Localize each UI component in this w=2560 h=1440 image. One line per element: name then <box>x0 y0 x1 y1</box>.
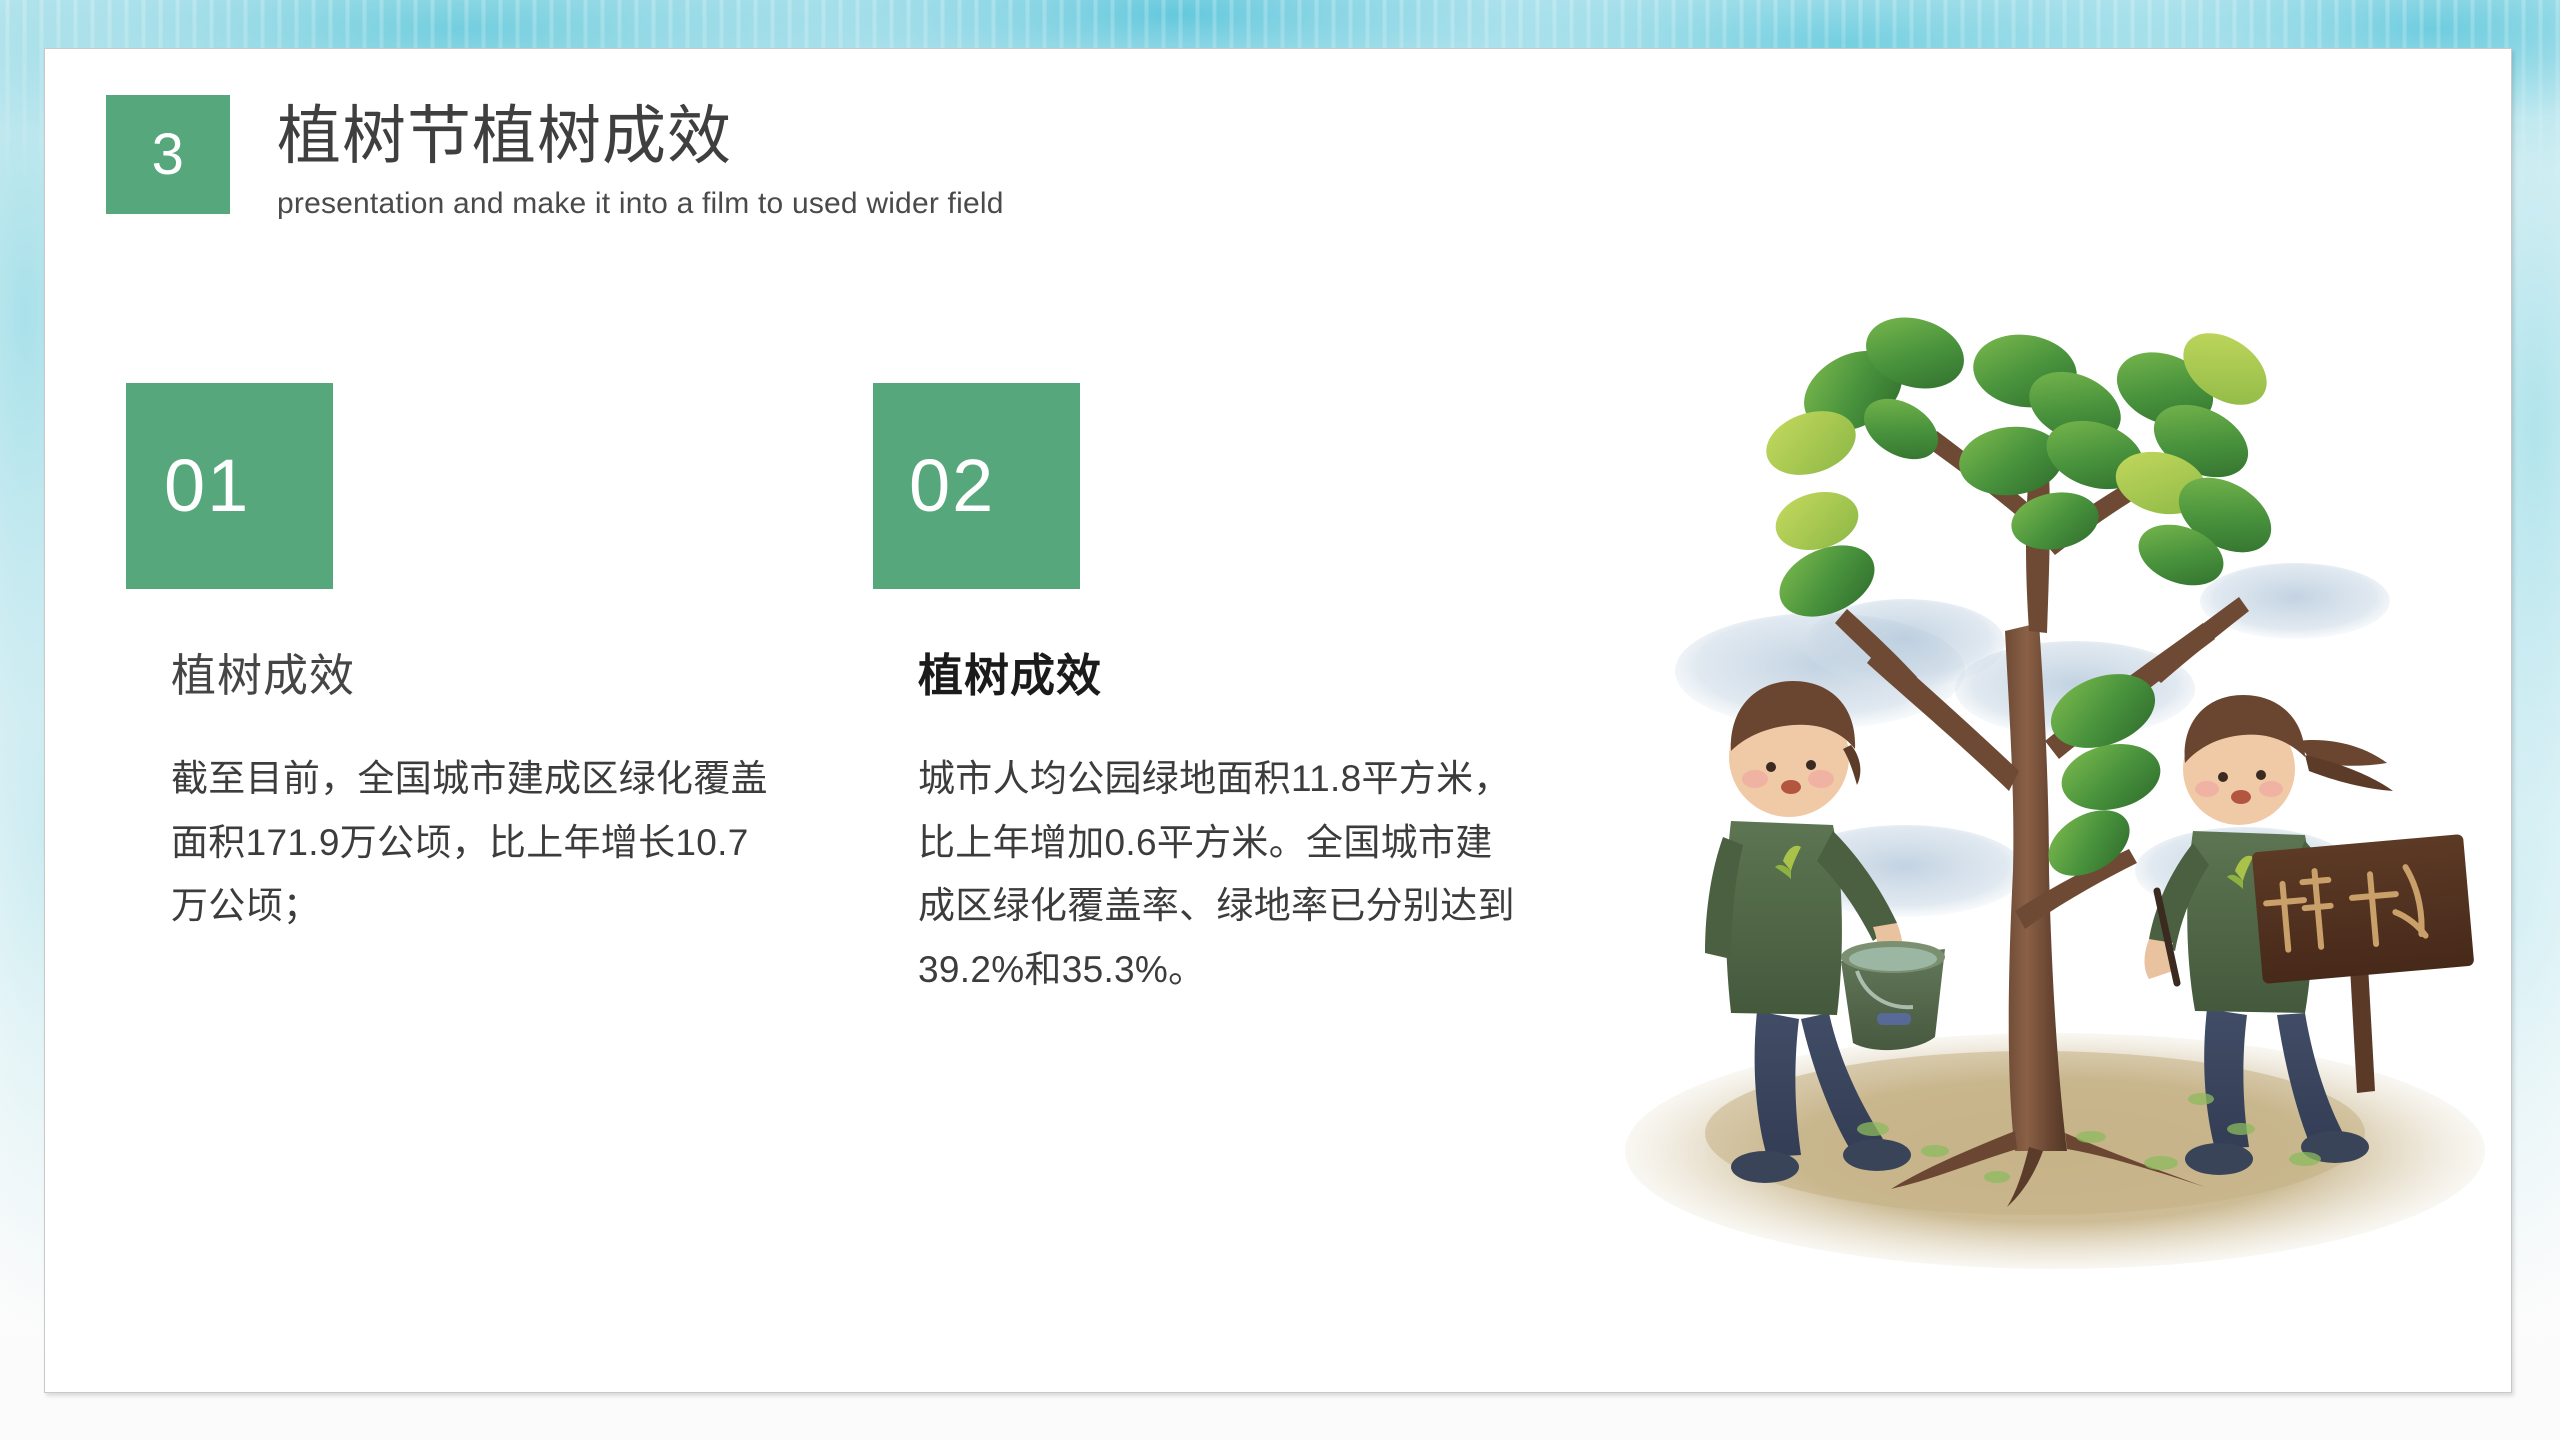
column-number-box-02: 02 <box>873 383 1080 589</box>
column-heading-01: 植树成效 <box>171 649 786 703</box>
column-body-01: 截至目前，全国城市建成区绿化覆盖面积171.9万公顷，比上年增长10.7万公顷； <box>171 747 771 938</box>
column-number-box-01: 01 <box>126 383 333 589</box>
column-body-02: 城市人均公园绿地面积11.8平方米，比上年增加0.6平方米。全国城市建成区绿化覆… <box>918 747 1528 1002</box>
content-column-02: 02 植树成效 城市人均公园绿地面积11.8平方米，比上年增加0.6平方米。全国… <box>873 383 1533 1002</box>
illustration-svg <box>1605 271 2505 1381</box>
column-number-label-01: 01 <box>164 449 250 523</box>
tree-planting-illustration <box>1605 271 2505 1381</box>
column-heading-02: 植树成效 <box>918 649 1533 703</box>
column-number-label-02: 02 <box>909 449 995 523</box>
slide-card: 3 植树节植树成效 presentation and make it into … <box>44 48 2512 1393</box>
content-column-01: 01 植树成效 截至目前，全国城市建成区绿化覆盖面积171.9万公顷，比上年增长… <box>126 383 786 938</box>
